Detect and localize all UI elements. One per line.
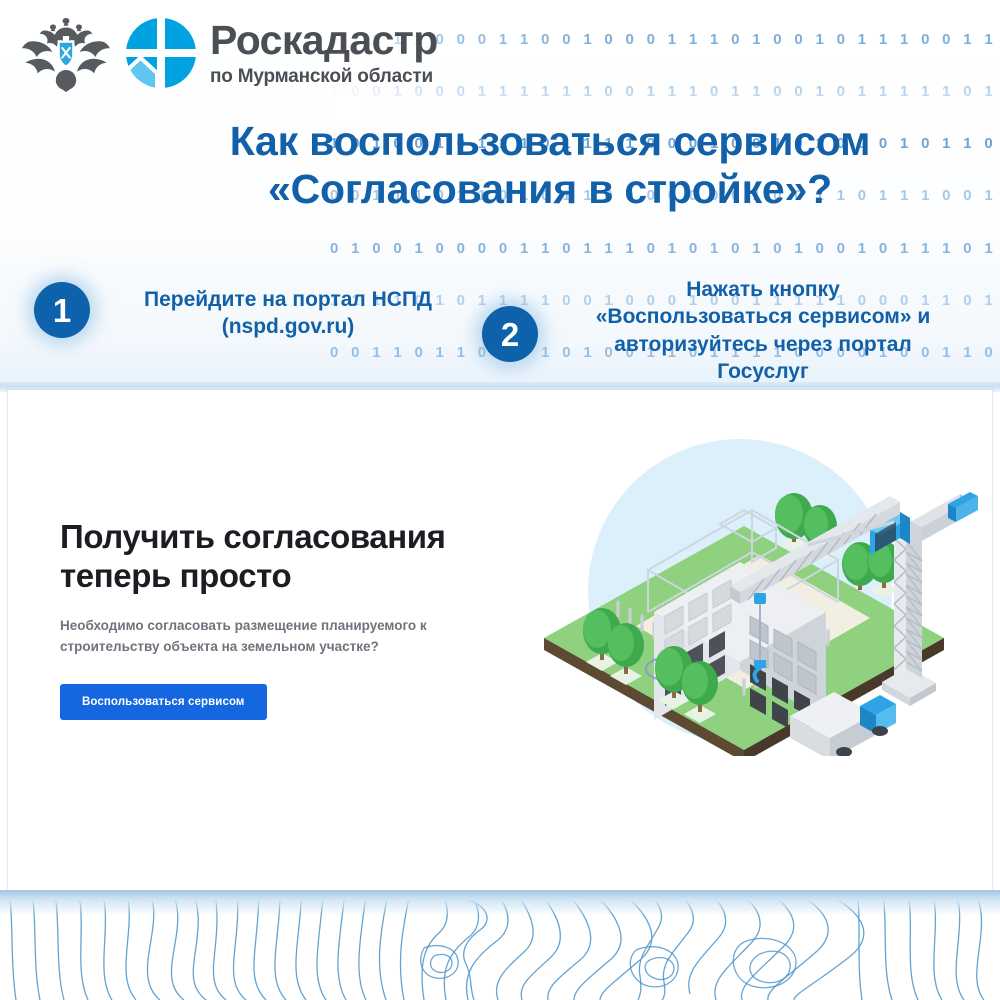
screenshot-paragraph-line-2: строительству объекта на земельном участ…	[60, 637, 438, 658]
brand-region: по Мурманской области	[210, 67, 438, 86]
screenshot-paragraph-line-1: Необходимо согласовать размещение планир…	[60, 618, 427, 633]
steps-list: 1 Перейдите на портал НСПД (nspd.gov.ru)…	[0, 250, 1000, 385]
isometric-construction-site-illustration	[508, 426, 978, 756]
use-service-button[interactable]: Воспользоваться сервисом	[60, 684, 267, 720]
crane-trolley	[754, 593, 766, 604]
brand-wordmark: Роскадастр по Мурманской области	[210, 20, 438, 86]
brand-name: Роскадастр	[210, 20, 438, 61]
topographic-footer	[0, 890, 1000, 1000]
step-1-line-1: Перейдите на портал НСПД	[144, 288, 432, 311]
step-1-line-2: (nspd.gov.ru)	[222, 315, 355, 338]
brand-logo: Роскадастр по Мурманской области	[22, 12, 438, 94]
topographic-contour-lines	[0, 890, 1000, 1000]
step-number-badge: 1	[34, 282, 90, 338]
page-title-line-2: «Согласования в стройке»?	[120, 166, 980, 214]
step-item-1: 1 Перейдите на портал НСПД (nspd.gov.ru)	[34, 282, 474, 341]
step-2-line-1: Нажать кнопку	[686, 278, 840, 301]
step-2-line-3: авторизуйтесь через портал	[614, 333, 912, 356]
page-title-line-1: Как воспользоваться сервисом	[230, 118, 871, 164]
step-2-quoted-button: «Воспользоваться сервисом»	[596, 305, 912, 328]
screenshot-heading-line-1: Получить согласования	[60, 518, 446, 555]
screenshot-paragraph: Необходимо согласовать размещение планир…	[60, 616, 438, 658]
screenshot-text-column: Получить согласования теперь просто Необ…	[60, 518, 480, 720]
header-section: 0 1 1 1 1 0 0 0 1 1 0 0 1 0 0 0 1 1 1 0 …	[0, 0, 1000, 388]
tree	[608, 623, 644, 685]
website-screenshot: Получить согласования теперь просто Необ…	[8, 390, 992, 890]
step-number-badge: 2	[482, 306, 538, 362]
screenshot-heading: Получить согласования теперь просто	[60, 518, 480, 596]
step-text: Перейдите на портал НСПД (nspd.gov.ru)	[102, 282, 474, 341]
roskadastr-circle-icon	[124, 16, 198, 90]
screenshot-heading-line-2: теперь просто	[60, 557, 480, 596]
step-text: Нажать кнопку «Воспользоваться сервисом»…	[548, 276, 978, 385]
step-2-line-2-tail: и	[912, 305, 931, 328]
tree	[682, 661, 718, 723]
step-2-line-4: Госуслуг	[717, 360, 808, 383]
page-title: Как воспользоваться сервисом «Согласован…	[120, 118, 980, 214]
step-item-2: 2 Нажать кнопку «Воспользоваться сервисо…	[482, 276, 982, 385]
double-headed-eagle-icon	[22, 12, 110, 94]
infographic-page: 0 1 1 1 1 0 0 0 1 1 0 0 1 0 0 0 1 1 1 0 …	[0, 0, 1000, 1000]
